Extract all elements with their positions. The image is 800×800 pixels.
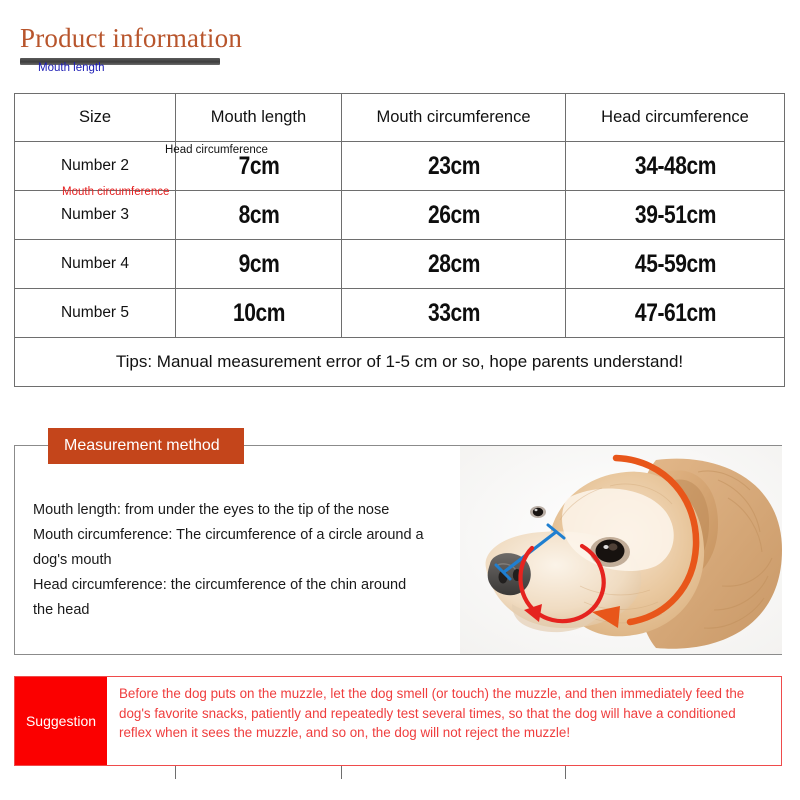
suggestion-tag-label: Suggestion: [26, 713, 96, 729]
value-text: 45-59cm: [634, 250, 715, 279]
cell-mouth-length: 8cm: [189, 191, 328, 240]
value-text: 39-51cm: [634, 201, 715, 230]
tips-row: Tips: Manual measurement error of 1-5 cm…: [15, 338, 785, 387]
value-text: 28cm: [427, 250, 479, 279]
cell-head-circumference: 39-51cm: [583, 191, 767, 240]
value-text: 23cm: [427, 152, 479, 181]
measure-line-2: Mouth circumference: The circumference o…: [33, 523, 478, 548]
value-text: 34-48cm: [634, 152, 715, 181]
size-table: Size Mouth length Mouth circumference He…: [14, 93, 785, 387]
dog-head-photo: [460, 446, 782, 654]
measurement-method-description: Mouth length: from under the eyes to the…: [33, 498, 478, 623]
cell-head-circumference: 47-61cm: [583, 289, 767, 338]
cell-head-circumference: 34-48cm: [583, 142, 767, 191]
measure-line-1: Mouth length: from under the eyes to the…: [33, 498, 478, 523]
cell-size: Number 4: [15, 240, 176, 289]
suggestion-text: Before the dog puts on the muzzle, let t…: [107, 677, 781, 765]
cell-mouth-circumference: 23cm: [359, 142, 547, 191]
cell-mouth-length: 9cm: [189, 240, 328, 289]
title-block: Product information: [20, 24, 440, 65]
measure-line-5: the head: [33, 598, 478, 623]
photo-label-mouth-length: Mouth length: [38, 62, 105, 74]
measurement-method-badge: Measurement method: [48, 428, 244, 464]
suggestion-panel: Suggestion Before the dog puts on the mu…: [14, 676, 782, 766]
measure-line-3: dog's mouth: [33, 548, 478, 573]
artifact-divider-2: [341, 766, 342, 779]
measurement-method-badge-label: Measurement method: [64, 437, 220, 455]
value-text: 9cm: [238, 250, 279, 279]
cell-size: Number 2: [15, 142, 176, 191]
table-row: Number 5 10cm 33cm 47-61cm: [15, 289, 785, 338]
table-row: Number 4 9cm 28cm 45-59cm: [15, 240, 785, 289]
column-header-size: Size: [15, 94, 176, 142]
cell-mouth-circumference: 33cm: [359, 289, 547, 338]
tips-text: Tips: Manual measurement error of 1-5 cm…: [15, 338, 785, 387]
artifact-divider-3: [565, 766, 566, 779]
value-text: 33cm: [427, 299, 479, 328]
dog-photo-illustration: [460, 446, 782, 654]
cell-head-circumference: 45-59cm: [583, 240, 767, 289]
value-text: 8cm: [238, 201, 279, 230]
value-text: 10cm: [232, 299, 284, 328]
value-text: 47-61cm: [634, 299, 715, 328]
measure-line-4: Head circumference: the circumference of…: [33, 573, 478, 598]
column-header-mouth-length: Mouth length: [176, 94, 342, 142]
cell-mouth-length: 10cm: [189, 289, 328, 338]
suggestion-tag: Suggestion: [15, 677, 107, 765]
value-text: 26cm: [427, 201, 479, 230]
photo-label-mouth-circumference: Mouth circumference: [62, 186, 169, 198]
artifact-divider-1: [175, 766, 176, 779]
table-row: Number 2 7cm 23cm 34-48cm: [15, 142, 785, 191]
page-title: Product information: [20, 24, 440, 52]
bottom-table-artifact: [14, 766, 784, 800]
photo-label-head-circumference: Head circumference: [165, 144, 268, 156]
cell-mouth-circumference: 28cm: [359, 240, 547, 289]
column-header-head-circumference: Head circumference: [566, 94, 785, 142]
table-header-row: Size Mouth length Mouth circumference He…: [15, 94, 785, 142]
cell-size: Number 5: [15, 289, 176, 338]
cell-mouth-circumference: 26cm: [359, 191, 547, 240]
column-header-mouth-circumference: Mouth circumference: [342, 94, 566, 142]
